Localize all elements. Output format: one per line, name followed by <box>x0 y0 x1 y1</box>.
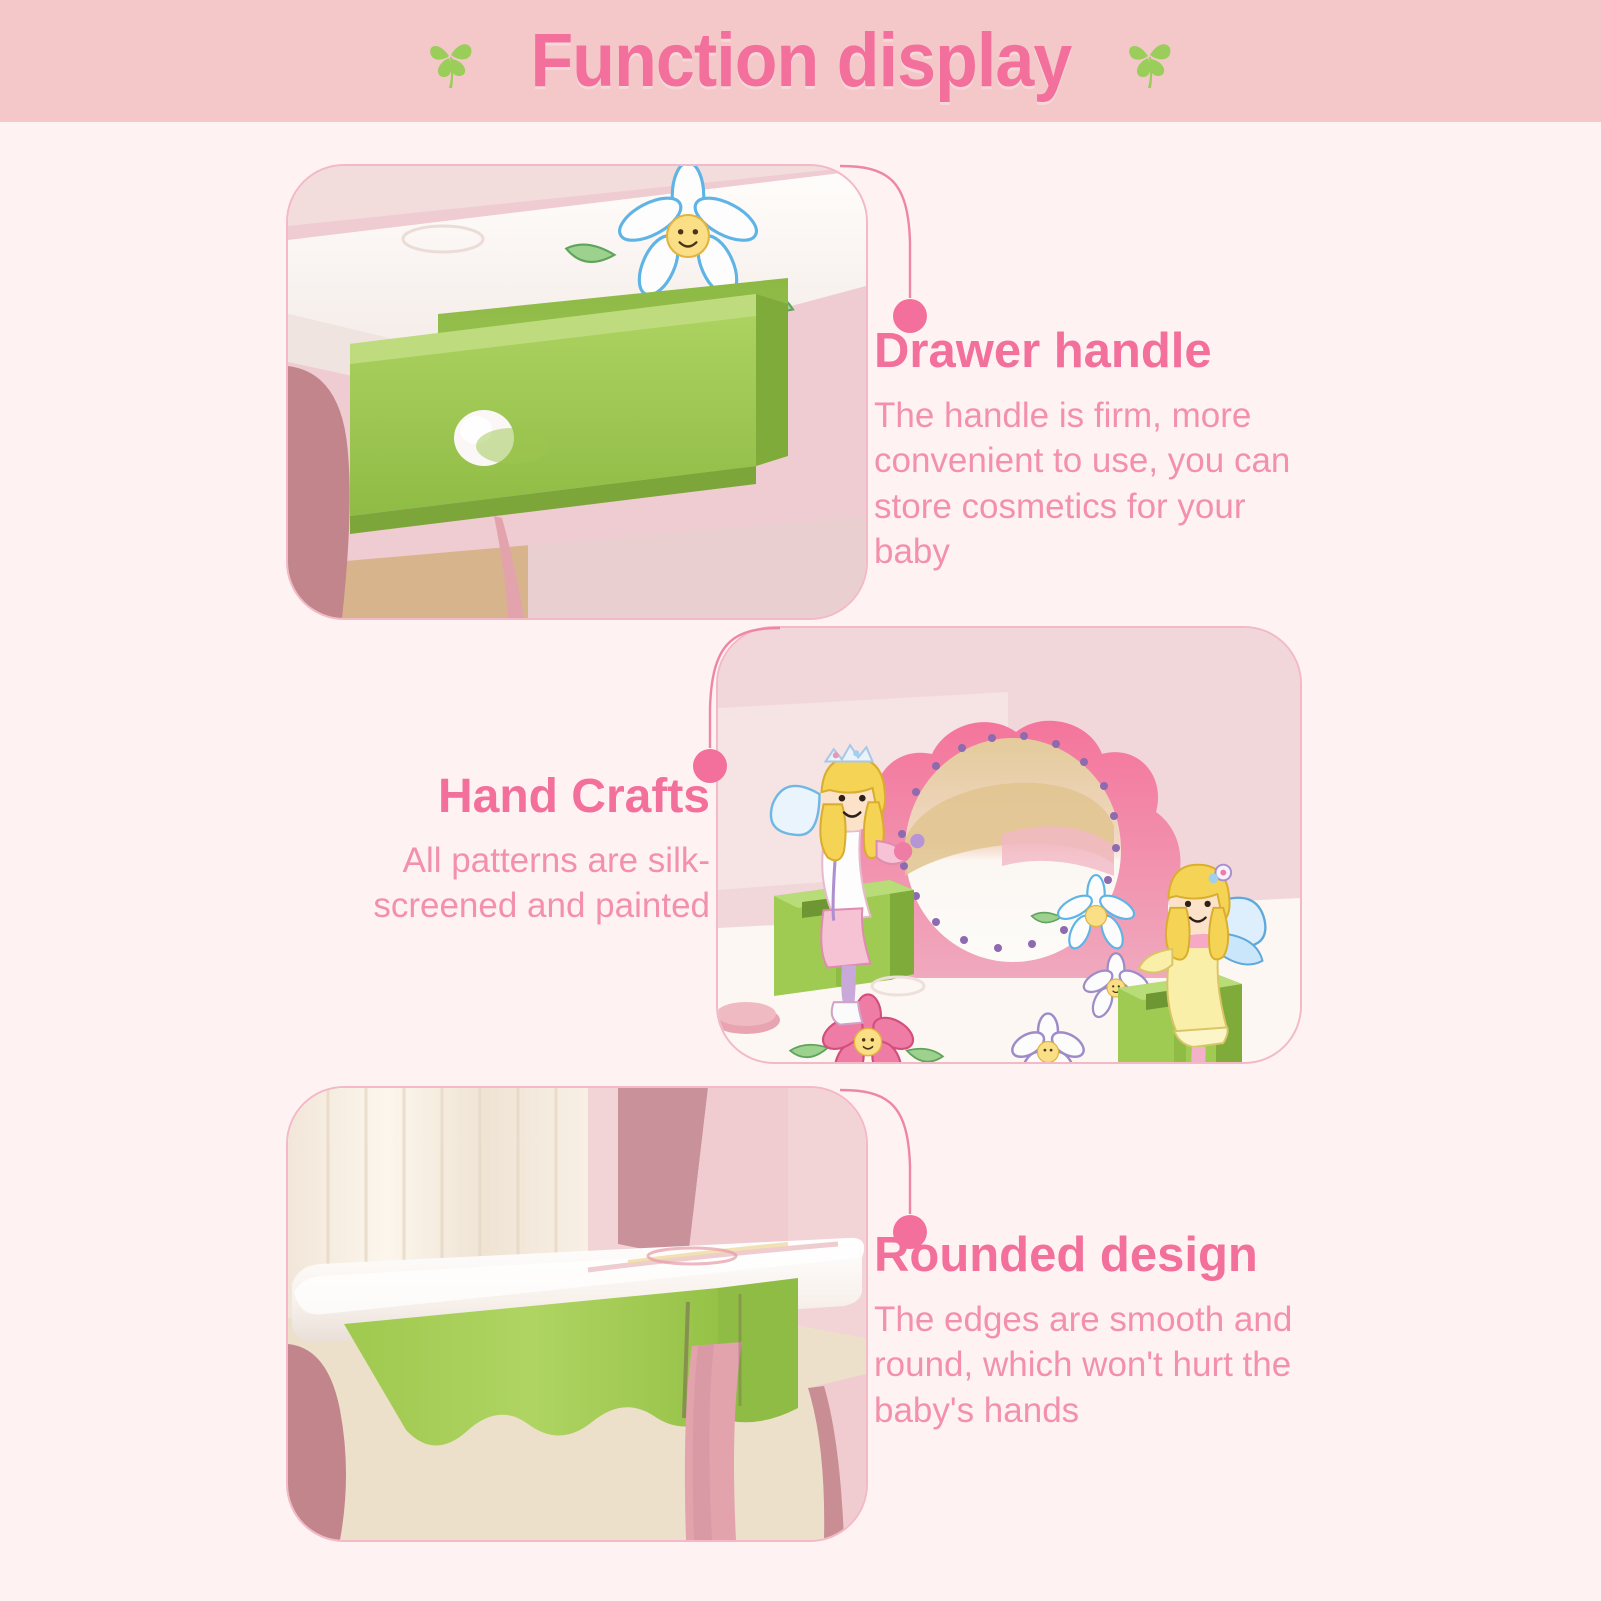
rounded-edge-photo-illustration <box>288 1088 866 1540</box>
drawer-photo-illustration <box>288 166 866 618</box>
feature-body-hand-crafts: All patterns are silk-screened and paint… <box>290 838 710 929</box>
feature-body-rounded-design: The edges are smooth and round, which wo… <box>874 1297 1314 1434</box>
feature-title-drawer-handle: Drawer handle <box>874 324 1314 379</box>
feature-title-rounded-design: Rounded design <box>874 1228 1314 1283</box>
clover-icon-svg <box>1124 33 1176 89</box>
clover-icon <box>425 33 477 89</box>
feature-image-rounded-design <box>288 1088 866 1540</box>
feature-text-hand-crafts: Hand Crafts All patterns are silk-screen… <box>290 770 710 929</box>
clover-icon <box>1124 33 1176 89</box>
feature-title-hand-crafts: Hand Crafts <box>290 770 710 824</box>
feature-body-drawer-handle: The handle is firm, more convenient to u… <box>874 393 1314 575</box>
header-banner: Function display <box>0 0 1601 122</box>
feature-text-drawer-handle: Drawer handle The handle is firm, more c… <box>874 324 1314 575</box>
page-title: Function display <box>530 23 1071 99</box>
mirror-photo-illustration <box>718 628 1300 1062</box>
feature-image-drawer-handle <box>288 166 866 618</box>
clover-icon-svg <box>425 33 477 89</box>
feature-image-hand-crafts <box>718 628 1300 1062</box>
feature-text-rounded-design: Rounded design The edges are smooth and … <box>874 1228 1314 1433</box>
